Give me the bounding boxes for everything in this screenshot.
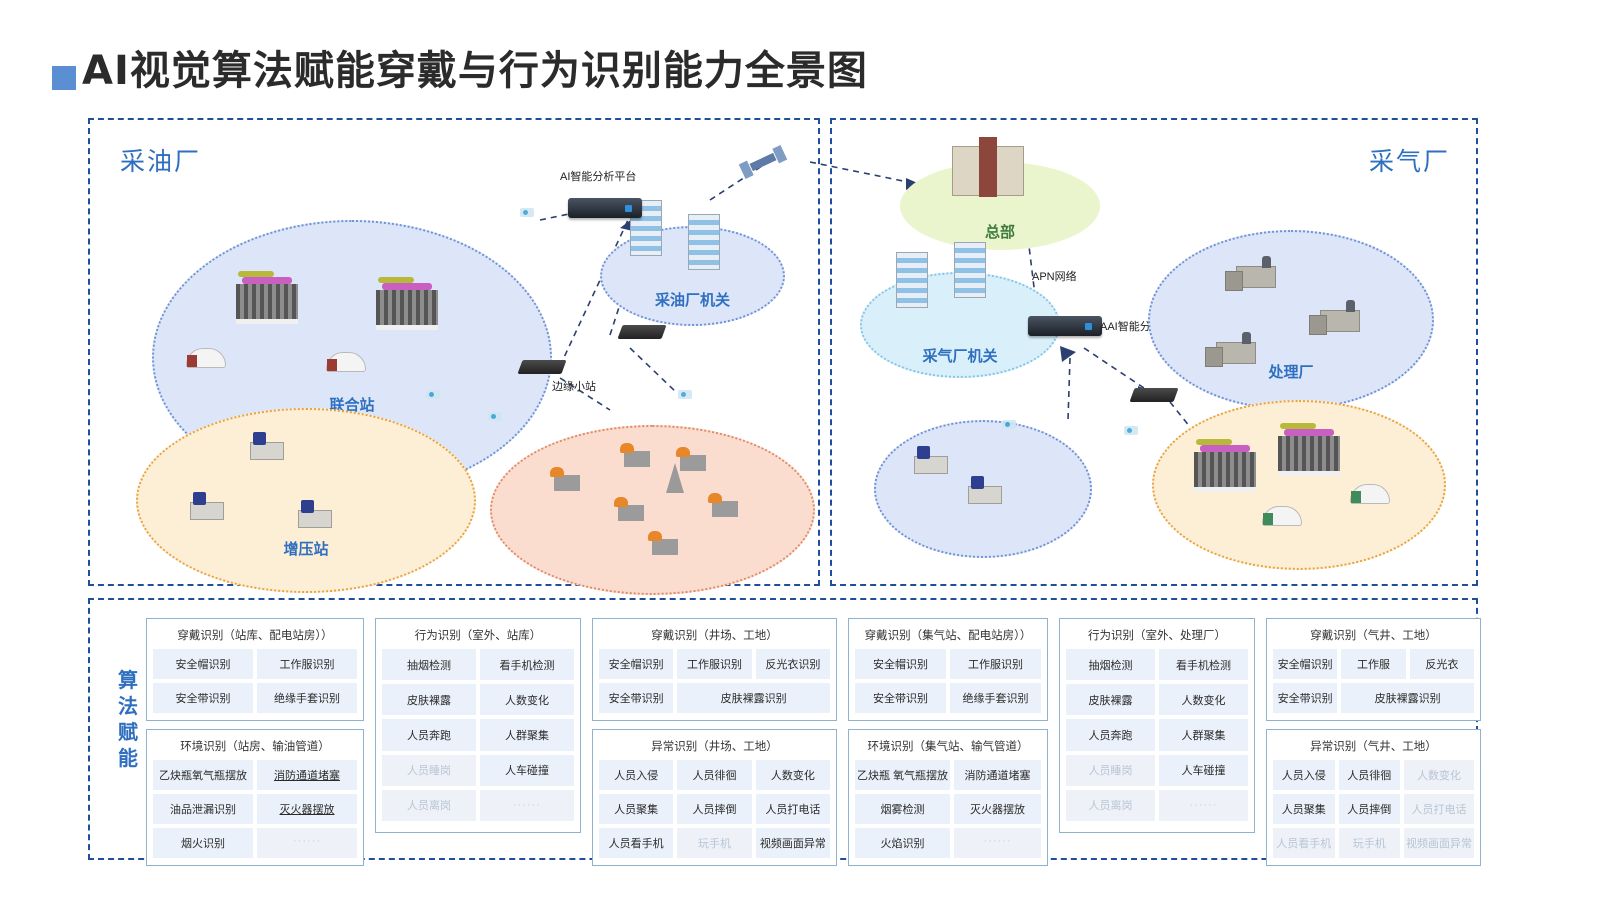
label-caiyou-jiguan: 采油厂机关 [602, 289, 783, 310]
algorithm-capability-chip[interactable]: 人群聚集 [1159, 719, 1248, 750]
page-title: AI视觉算法赋能穿戴与行为识别能力全景图 [52, 38, 868, 96]
algorithm-card: 异常识别（井场、工地）人员入侵人员徘徊人数变化人员聚集人员摔倒人员打电话人员看手… [592, 729, 837, 866]
algorithm-capability-chip[interactable]: 烟雾检测 [855, 794, 950, 824]
algorithm-capability-chip[interactable]: 安全帽识别 [855, 649, 946, 679]
algorithm-capability-chip[interactable]: 皮肤裸露 [1066, 684, 1155, 715]
camera-icon-1 [520, 208, 534, 217]
algorithm-capability-chip[interactable]: 抽烟检测 [382, 649, 476, 680]
algorithm-capability-chip[interactable]: 人群聚集 [480, 719, 574, 750]
algorithm-card-header: 异常识别（井场、工地） [599, 735, 830, 760]
algorithm-chip-grid: 乙炔瓶 氧气瓶摆放消防通道堵塞烟雾检测灭火器摆放火焰识别······ [855, 760, 1041, 858]
algorithm-capability-chip[interactable]: 人员睡岗 [382, 755, 476, 786]
algorithm-capability-chip[interactable]: 玩手机 [1339, 828, 1401, 858]
algorithm-capability-chip[interactable]: 人员聚集 [599, 794, 673, 824]
algorithm-capability-chip[interactable]: 皮肤裸露识别 [677, 683, 830, 713]
label-caiqi-jiguan: 采气厂机关 [862, 345, 1058, 366]
ellipse-hq: 总部 [900, 162, 1100, 250]
zone-title-gas: 采气厂 [1369, 142, 1450, 178]
algorithm-chip-grid: 乙炔瓶氧气瓶摆放消防通道堵塞油品泄漏识别灭火器摆放烟火识别······ [153, 760, 357, 858]
ellipse-caiyou-jiguan: 采油厂机关 [600, 226, 785, 326]
algorithm-chip-grid: 安全帽识别工作服识别安全带识别绝缘手套识别 [855, 649, 1041, 713]
algorithm-capability-chip[interactable]: 火焰识别 [855, 828, 950, 858]
algorithm-capability-chip[interactable]: 人员入侵 [599, 760, 673, 790]
edge-node-icon-1 [517, 360, 566, 374]
ai-server-right-icon [1028, 316, 1102, 336]
algorithm-capability-chip[interactable]: 安全帽识别 [1273, 649, 1337, 679]
algorithm-card-header: 行为识别（室外、处理厂） [1066, 624, 1248, 649]
algorithm-capability-chip[interactable]: 工作服识别 [677, 649, 751, 679]
ellipse-chulichang: 处理厂 [1148, 230, 1434, 410]
algorithm-panel-label: 算法赋能 [108, 668, 148, 772]
algorithm-capability-chip[interactable]: 安全带识别 [153, 683, 253, 713]
ellipse-gas-pumps [874, 420, 1092, 558]
algorithm-chip-grid: 安全帽识别工作服识别反光衣识别安全带识别皮肤裸露识别 [599, 649, 830, 713]
algorithm-capability-chip[interactable]: 工作服识别 [950, 649, 1041, 679]
ellipse-oil-wells [490, 425, 815, 595]
algorithm-chip-grid: 安全帽识别工作服识别安全带识别绝缘手套识别 [153, 649, 357, 713]
algorithm-card-header: 环境识别（集气站、输气管道） [855, 735, 1041, 760]
algorithm-capability-chip[interactable]: 人数变化 [1159, 684, 1248, 715]
algorithm-capability-chip[interactable]: 人员入侵 [1273, 760, 1335, 790]
algorithm-card: 异常识别（气井、工地）人员入侵人员徘徊人数变化人员聚集人员摔倒人员打电话人员看手… [1266, 729, 1481, 866]
algorithm-capability-chip[interactable]: 视频画面异常 [756, 828, 830, 858]
label-edge-station: 边缘小站 [552, 378, 596, 394]
algorithm-capability-chip[interactable]: 皮肤裸露 [382, 684, 476, 715]
algorithm-capability-chip[interactable]: 安全带识别 [1273, 683, 1337, 713]
algorithm-capability-chip[interactable]: 安全帽识别 [599, 649, 673, 679]
algorithm-column: 穿戴识别（井场、工地）安全帽识别工作服识别反光衣识别安全带识别皮肤裸露识别异常识… [592, 618, 837, 866]
label-chulichang: 处理厂 [1150, 361, 1432, 382]
algorithm-card: 环境识别（集气站、输气管道）乙炔瓶 氧气瓶摆放消防通道堵塞烟雾检测灭火器摆放火焰… [848, 729, 1048, 866]
camera-icon-2 [426, 390, 440, 399]
algorithm-chip-grid: 抽烟检测看手机检测皮肤裸露人数变化人员奔跑人群聚集人员睡岗人车碰撞人员离岗···… [1066, 649, 1248, 821]
algorithm-capability-chip[interactable]: 工作服 [1341, 649, 1405, 679]
algorithm-chip-grid: 人员入侵人员徘徊人数变化人员聚集人员摔倒人员打电话人员看手机玩手机视频画面异常 [599, 760, 830, 858]
camera-icon-6 [1124, 426, 1138, 435]
algorithm-capability-chip[interactable]: 绝缘手套识别 [950, 683, 1041, 713]
algorithm-capability-chip[interactable]: 人数变化 [1404, 760, 1474, 790]
algorithm-columns: 穿戴识别（站库、配电站房））安全帽识别工作服识别安全带识别绝缘手套识别环境识别（… [146, 618, 1481, 866]
oil-plant-panel: 采油厂 联合站 增压站 [88, 118, 820, 586]
algorithm-card: 穿戴识别（井场、工地）安全帽识别工作服识别反光衣识别安全带识别皮肤裸露识别 [592, 618, 837, 721]
algorithm-card: 穿戴识别（集气站、配电站房））安全帽识别工作服识别安全带识别绝缘手套识别 [848, 618, 1048, 721]
algorithm-capability-chip[interactable]: 人员徘徊 [1339, 760, 1401, 790]
algorithm-capability-chip[interactable]: 人员打电话 [1404, 794, 1474, 824]
algorithm-card-header: 环境识别（站房、输油管道） [153, 735, 357, 760]
algorithm-column: 行为识别（室外、站库）抽烟检测看手机检测皮肤裸露人数变化人员奔跑人群聚集人员睡岗… [375, 618, 581, 866]
algorithm-capability-chip[interactable]: 烟火识别 [153, 828, 253, 858]
camera-icon-5 [1002, 420, 1016, 429]
camera-icon-4 [678, 390, 692, 399]
algorithm-capability-chip[interactable]: 油品泄漏识别 [153, 794, 253, 824]
algorithm-column: 行为识别（室外、处理厂）抽烟检测看手机检测皮肤裸露人数变化人员奔跑人群聚集人员睡… [1059, 618, 1255, 866]
algorithm-capability-chip[interactable]: ······ [480, 790, 574, 821]
zone-title-oil: 采油厂 [120, 142, 201, 178]
label-apn-network: APN网络 [1032, 268, 1077, 284]
title-accent-square [52, 66, 76, 90]
algorithm-capability-chip[interactable]: ······ [257, 828, 357, 858]
algorithm-capability-chip[interactable]: 玩手机 [677, 828, 751, 858]
algorithm-capability-chip[interactable]: 抽烟检测 [1066, 649, 1155, 680]
label-ai-platform-left: AI智能分析平台 [560, 168, 636, 184]
algorithm-capability-chip[interactable]: 绝缘手套识别 [257, 683, 357, 713]
algorithm-capability-chip[interactable]: 人数变化 [480, 684, 574, 715]
algorithm-capability-chip[interactable]: 消防通道堵塞 [954, 760, 1041, 790]
algorithm-card: 行为识别（室外、处理厂）抽烟检测看手机检测皮肤裸露人数变化人员奔跑人群聚集人员睡… [1059, 618, 1255, 833]
algorithm-capability-chip[interactable]: 皮肤裸露识别 [1341, 683, 1474, 713]
algorithm-capability-chip[interactable]: 反光衣 [1410, 649, 1474, 679]
algorithm-capability-chip[interactable]: 人车碰撞 [480, 755, 574, 786]
algorithm-card-header: 穿戴识别（气井、工地） [1273, 624, 1474, 649]
algorithm-capability-chip[interactable]: 人数变化 [756, 760, 830, 790]
algorithm-capability-chip[interactable]: 安全带识别 [599, 683, 673, 713]
algorithm-column: 穿戴识别（站库、配电站房））安全帽识别工作服识别安全带识别绝缘手套识别环境识别（… [146, 618, 364, 866]
algorithm-capability-chip[interactable]: 人员奔跑 [382, 719, 476, 750]
label-zengyazhan: 增压站 [138, 538, 474, 559]
algorithm-capability-chip[interactable]: 乙炔瓶 氧气瓶摆放 [855, 760, 950, 790]
algorithm-card: 行为识别（室外、站库）抽烟检测看手机检测皮肤裸露人数变化人员奔跑人群聚集人员睡岗… [375, 618, 581, 833]
algorithm-capability-chip[interactable]: 人员打电话 [756, 794, 830, 824]
algorithm-capability-chip[interactable]: 人员睡岗 [1066, 755, 1155, 786]
algorithm-capability-chip[interactable]: 人车碰撞 [1159, 755, 1248, 786]
algorithm-capability-chip[interactable]: 灭火器摆放 [954, 794, 1041, 824]
algorithm-chip-grid: 抽烟检测看手机检测皮肤裸露人数变化人员奔跑人群聚集人员睡岗人车碰撞人员离岗···… [382, 649, 574, 821]
algorithm-capability-chip[interactable]: 工作服识别 [257, 649, 357, 679]
algorithm-capability-chip[interactable]: 反光衣识别 [756, 649, 830, 679]
algorithm-card-header: 异常识别（气井、工地） [1273, 735, 1474, 760]
algorithm-capability-chip[interactable]: 灭火器摆放 [257, 794, 357, 824]
edge-node-icon-3 [1129, 388, 1178, 402]
algorithm-chip-grid: 安全帽识别工作服反光衣安全带识别皮肤裸露识别 [1273, 649, 1474, 713]
algorithm-label-char: 法 [108, 694, 148, 720]
algorithm-capability-chip[interactable]: ······ [1159, 790, 1248, 821]
algorithm-card: 穿戴识别（站库、配电站房））安全帽识别工作服识别安全带识别绝缘手套识别 [146, 618, 364, 721]
algorithm-capability-chip[interactable]: 人员摔倒 [1339, 794, 1401, 824]
algorithm-card-header: 穿戴识别（站库、配电站房）） [153, 624, 357, 649]
algorithm-capability-chip[interactable]: 人员奔跑 [1066, 719, 1155, 750]
algorithm-chip-grid: 人员入侵人员徘徊人数变化人员聚集人员摔倒人员打电话人员看手机玩手机视频画面异常 [1273, 760, 1474, 858]
algorithm-capability-chip[interactable]: 人员离岗 [1066, 790, 1155, 821]
algorithm-capability-chip[interactable]: 看手机检测 [1159, 649, 1248, 680]
algorithm-card-header: 穿戴识别（集气站、配电站房）） [855, 624, 1041, 649]
algorithm-label-char: 能 [108, 746, 148, 772]
algorithm-capability-chip[interactable]: 人员徘徊 [677, 760, 751, 790]
algorithm-capability-chip[interactable]: 人员聚集 [1273, 794, 1335, 824]
title-text: AI视觉算法赋能穿戴与行为识别能力全景图 [82, 38, 868, 96]
algorithm-card: 环境识别（站房、输油管道）乙炔瓶氧气瓶摆放消防通道堵塞油品泄漏识别灭火器摆放烟火… [146, 729, 364, 866]
algorithm-card: 穿戴识别（气井、工地）安全帽识别工作服反光衣安全带识别皮肤裸露识别 [1266, 618, 1481, 721]
camera-icon-3 [488, 412, 502, 421]
label-hq: 总部 [900, 221, 1100, 242]
algorithm-card-header: 穿戴识别（井场、工地） [599, 624, 830, 649]
algorithm-column: 穿戴识别（气井、工地）安全帽识别工作服反光衣安全带识别皮肤裸露识别异常识别（气井… [1266, 618, 1481, 866]
ellipse-gas-processing [1152, 400, 1446, 570]
algorithm-capability-chip[interactable]: 人员摔倒 [677, 794, 751, 824]
ai-server-left-icon [568, 198, 642, 218]
edge-node-icon-2 [617, 325, 666, 339]
ellipse-zengyazhan: 增压站 [136, 408, 476, 593]
algorithm-capability-chip[interactable]: 人员看手机 [599, 828, 673, 858]
algorithm-capability-chip[interactable]: 乙炔瓶氧气瓶摆放 [153, 760, 253, 790]
algorithm-capability-chip[interactable]: 人员看手机 [1273, 828, 1335, 858]
algorithm-column: 穿戴识别（集气站、配电站房））安全帽识别工作服识别安全带识别绝缘手套识别环境识别… [848, 618, 1048, 866]
algorithm-capability-chip[interactable]: 看手机检测 [480, 649, 574, 680]
algorithm-capability-chip[interactable]: 安全帽识别 [153, 649, 253, 679]
algorithm-card-header: 行为识别（室外、站库） [382, 624, 574, 649]
algorithm-capability-chip[interactable]: ······ [954, 828, 1041, 858]
algorithm-capability-chip[interactable]: 安全带识别 [855, 683, 946, 713]
satellite-icon [750, 153, 777, 171]
algorithm-label-char: 算 [108, 668, 148, 694]
algorithm-capability-chip[interactable]: 人员离岗 [382, 790, 476, 821]
algorithm-capability-chip[interactable]: 消防通道堵塞 [257, 760, 357, 790]
algorithm-label-char: 赋 [108, 720, 148, 746]
algorithm-capability-chip[interactable]: 视频画面异常 [1404, 828, 1474, 858]
gas-plant-panel: 采气厂 总部 APN网络 采气厂机关 AAI智能分析平台 [830, 118, 1478, 586]
